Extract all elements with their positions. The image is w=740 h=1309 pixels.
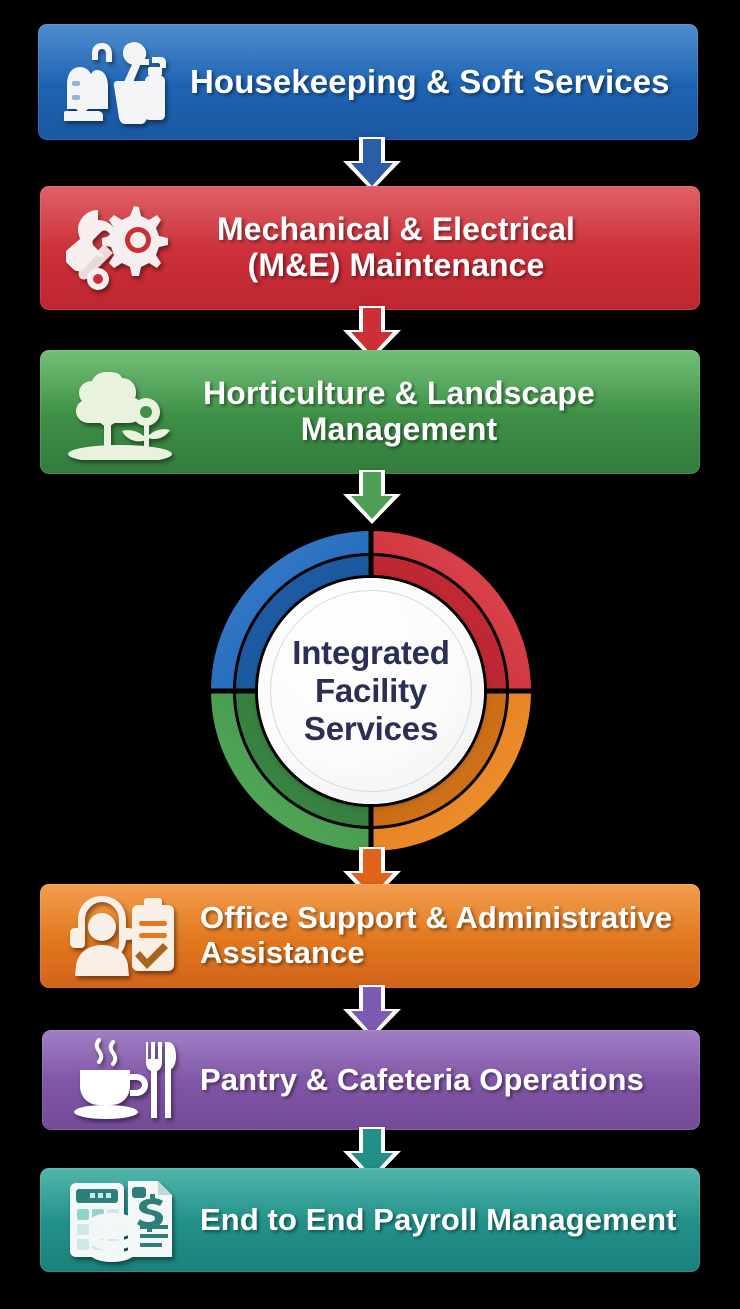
- headset-clipboard-icon: [66, 893, 178, 979]
- step-label: End to End Payroll Management: [200, 1203, 677, 1238]
- step-horticulture[interactable]: Horticulture & Landscape Management: [40, 350, 700, 474]
- coffee-cutlery-icon: [68, 1038, 178, 1122]
- facility-services-flow-diagram: Housekeeping & Soft Services: [0, 0, 740, 1309]
- step-pantry-cafeteria[interactable]: Pantry & Cafeteria Operations: [42, 1030, 700, 1130]
- step-office-support[interactable]: Office Support & Administrative Assistan…: [40, 884, 700, 988]
- step-label: Mechanical & Electrical (M&E) Maintenanc…: [172, 212, 620, 284]
- step-housekeeping[interactable]: Housekeeping & Soft Services: [38, 24, 698, 140]
- step-payroll[interactable]: End to End Payroll Management: [40, 1168, 700, 1272]
- step-label: Pantry & Cafeteria Operations: [200, 1063, 644, 1098]
- tree-flower-icon: [66, 364, 178, 460]
- wrench-gear-icon: [66, 200, 172, 296]
- hub-label: Integrated Facility Services: [292, 634, 450, 749]
- calculator-coins-icon: [66, 1177, 178, 1263]
- step-label: Horticulture & Landscape Management: [178, 376, 620, 448]
- step-mechanical-electrical[interactable]: Mechanical & Electrical (M&E) Maintenanc…: [40, 186, 700, 310]
- step-label: Office Support & Administrative Assistan…: [200, 901, 700, 970]
- integrated-facility-services-hub[interactable]: Integrated Facility Services: [196, 516, 546, 866]
- step-label: Housekeeping & Soft Services: [190, 64, 670, 101]
- vacuum-cleaner-icon: [64, 37, 168, 127]
- hub-center: Integrated Facility Services: [258, 578, 484, 804]
